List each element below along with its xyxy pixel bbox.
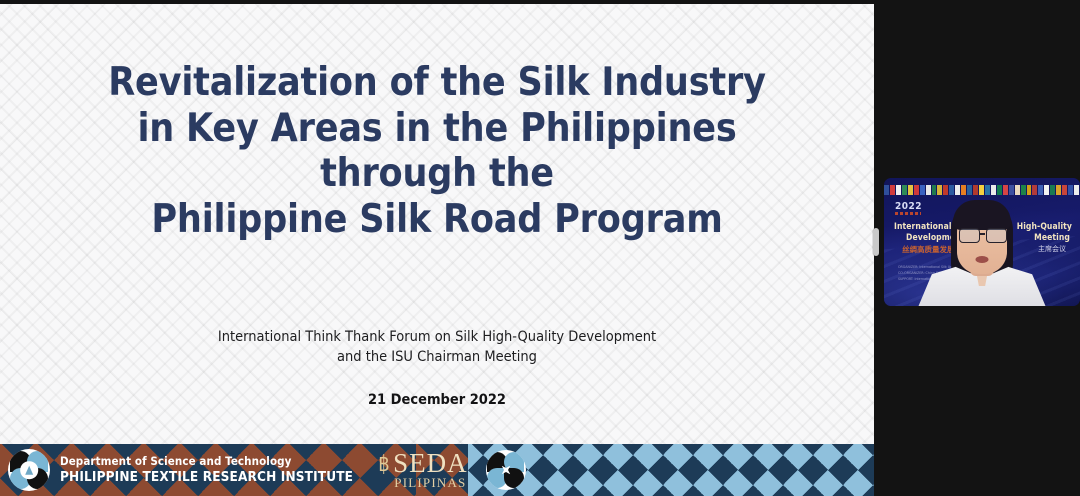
avatar-glasses-bridge [979, 233, 985, 235]
participant-avatar [884, 178, 1080, 306]
ptri-institute-label: PHILIPPINE TEXTILE RESEARCH INSTITUTE [60, 469, 353, 485]
seda-logo-icon: ฿ SEDA PILIPINAS [377, 451, 468, 490]
seal-flame-icon [25, 466, 33, 475]
dost-seal-icon [8, 449, 50, 491]
video-resize-handle[interactable] [873, 228, 879, 256]
slide-subtitle: International Think Thank Forum on Silk … [77, 327, 797, 369]
slide-title: Revitalization of the Silk Industry in K… [57, 60, 817, 243]
ptri-seal-icon [486, 450, 526, 490]
meeting-screen: Revitalization of the Silk Industry in K… [0, 0, 1080, 496]
avatar-glasses-right-lens [986, 228, 1007, 243]
presentation-slide[interactable]: Revitalization of the Silk Industry in K… [0, 4, 874, 496]
avatar-hair-front [953, 200, 1011, 230]
seda-subtitle-label: PILIPINAS [394, 476, 466, 489]
footer-logo-row: Department of Science and Technology PHI… [8, 444, 526, 496]
dost-wordmark: Department of Science and Technology PHI… [60, 455, 353, 485]
slide-date: 21 December 2022 [368, 392, 506, 408]
avatar-mouth [976, 256, 989, 263]
slide-footer-band: Department of Science and Technology PHI… [0, 444, 874, 496]
seda-wordmark: SEDA PILIPINAS [393, 451, 468, 490]
avatar-glasses-left-lens [959, 228, 980, 243]
slide-content: Revitalization of the Silk Industry in K… [0, 4, 874, 496]
speaker-video-tile[interactable]: 2022 International Think Tan High-Qualit… [884, 178, 1080, 306]
seal-hub [20, 461, 38, 479]
footer-blue-chevron-pattern [468, 444, 874, 496]
seda-monogram-glyph: ฿ [379, 454, 390, 476]
dost-department-label: Department of Science and Technology [60, 455, 353, 469]
seda-name-label: SEDA [393, 451, 468, 476]
